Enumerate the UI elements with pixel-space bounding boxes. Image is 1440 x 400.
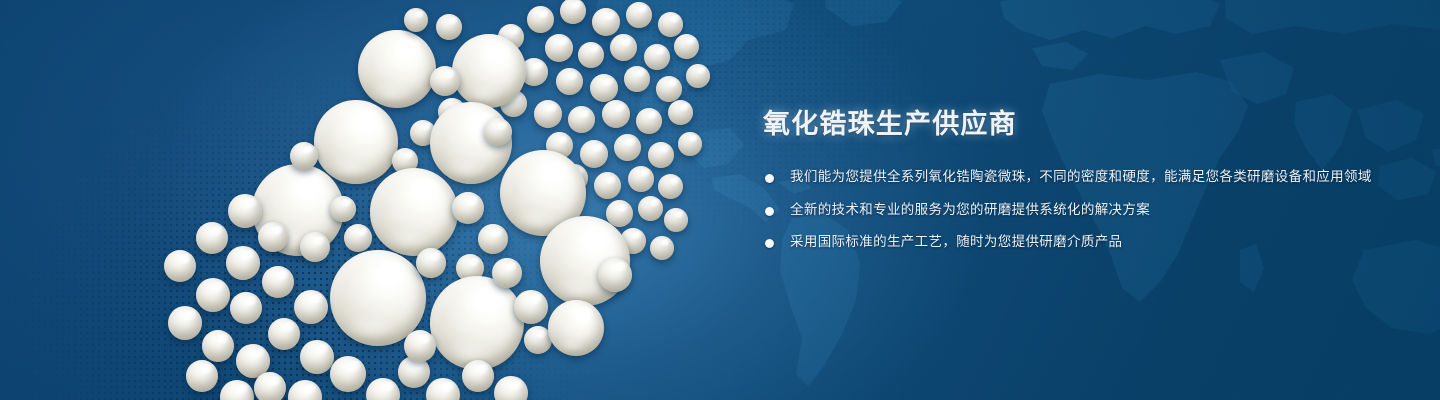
zirconia-beads-cluster-image bbox=[0, 0, 740, 400]
banner-headline: 氧化锆珠生产供应商 bbox=[763, 108, 1403, 141]
list-item: 我们能为您提供全系列氧化锆陶瓷微珠，不同的密度和硬度，能满足您各类研磨设备和应用… bbox=[763, 166, 1403, 189]
banner-copy: 氧化锆珠生产供应商 我们能为您提供全系列氧化锆陶瓷微珠，不同的密度和硬度，能满足… bbox=[763, 108, 1403, 254]
list-item: 采用国际标准的生产工艺，随时为您提供研磨介质产品 bbox=[763, 231, 1403, 254]
list-item-text: 全新的技术和专业的服务为您的研磨提供系统化的解决方案 bbox=[790, 202, 1150, 218]
bullet-dot-icon bbox=[765, 207, 774, 216]
bullet-dot-icon bbox=[765, 174, 774, 183]
list-item: 全新的技术和专业的服务为您的研磨提供系统化的解决方案 bbox=[763, 199, 1403, 222]
list-item-text: 采用国际标准的生产工艺，随时为您提供研磨介质产品 bbox=[790, 234, 1122, 250]
hero-banner: 氧化锆珠生产供应商 我们能为您提供全系列氧化锆陶瓷微珠，不同的密度和硬度，能满足… bbox=[0, 0, 1440, 400]
bullet-dot-icon bbox=[765, 239, 774, 248]
banner-feature-list: 我们能为您提供全系列氧化锆陶瓷微珠，不同的密度和硬度，能满足您各类研磨设备和应用… bbox=[763, 166, 1403, 254]
list-item-text: 我们能为您提供全系列氧化锆陶瓷微珠，不同的密度和硬度，能满足您各类研磨设备和应用… bbox=[790, 169, 1372, 185]
